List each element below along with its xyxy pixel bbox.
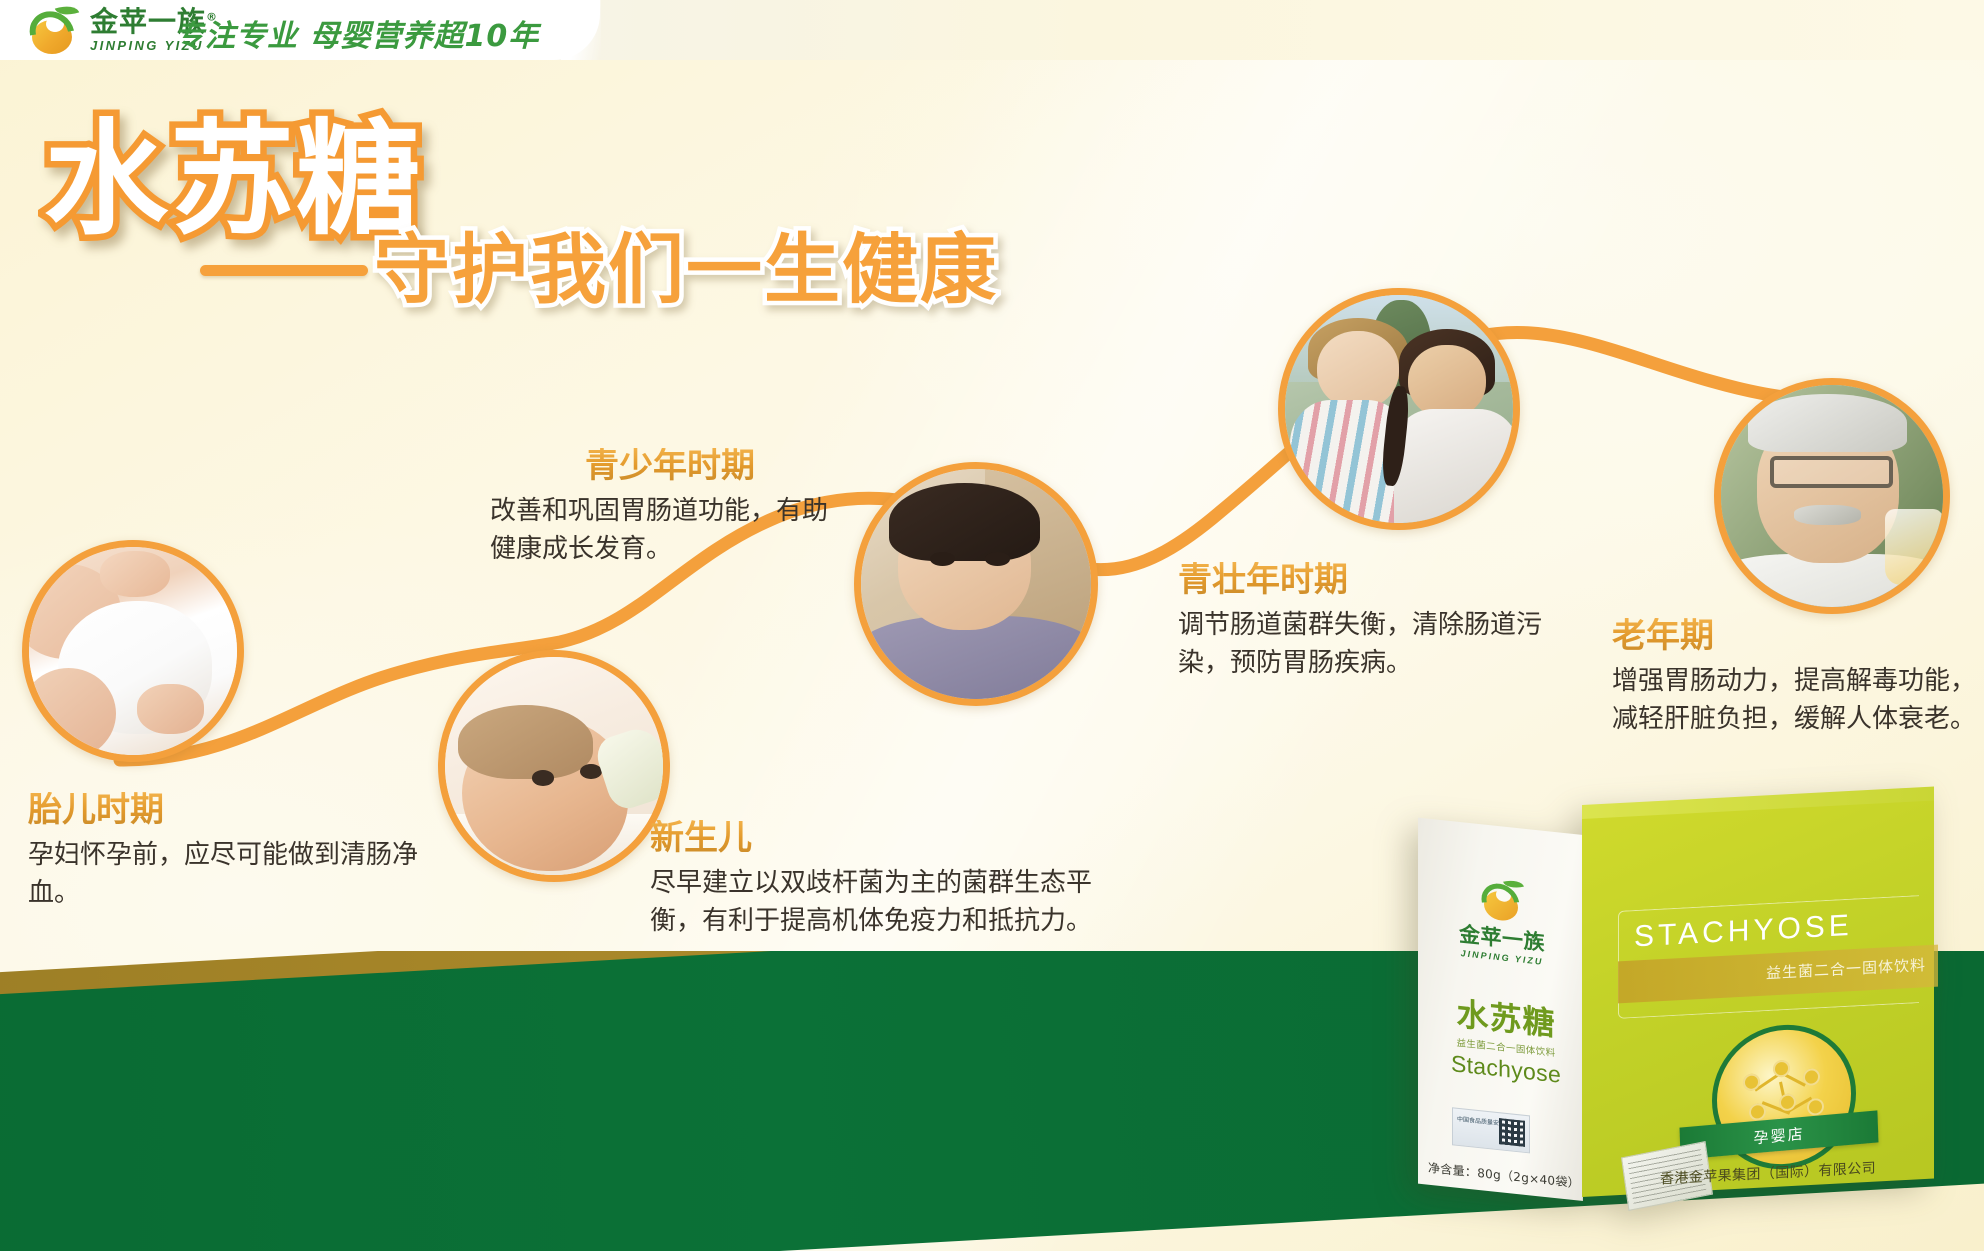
caption-body-adult: 调节肠道菌群失衡，清除肠道污染，预防胃肠疾病。 [1178, 607, 1548, 682]
newborn-with-bottle-photo [445, 657, 663, 875]
photo-circle-teen [854, 462, 1098, 706]
caption-body-teen: 改善和巩固胃肠道功能，有助健康成长发育。 [490, 493, 850, 568]
page-title: 水苏糖 [44, 118, 422, 242]
product-badge-ribbon-label: 孕婴店 [1753, 1122, 1805, 1147]
top-header-bar: 金苹一族® JINPING YIZU 专注专业 母婴营养超10年 [0, 0, 1984, 60]
caption-title-fetal: 胎儿时期 [28, 792, 428, 829]
poster-canvas: 金苹一族® JINPING YIZU 专注专业 母婴营养超10年 水苏糖 守护我… [0, 0, 1984, 1251]
caption-adult: 青壮年时期 调节肠道菌群失衡，清除肠道污染，预防胃肠疾病。 [1178, 562, 1548, 683]
subtitle-dash [200, 265, 368, 276]
apple-logo-icon [26, 4, 82, 56]
caption-fetal: 胎儿时期 孕妇怀孕前，应尽可能做到清肠净血。 [28, 792, 428, 913]
caption-elderly: 老年期 增强胃肠动力，提高解毒功能，减轻肝脏负担，缓解人体衰老。 [1612, 618, 1980, 739]
traceability-qr-label: 中国食品质量安全追溯 [1452, 1107, 1530, 1153]
boy-photo [861, 469, 1091, 699]
caption-body-newborn: 尽早建立以双歧杆菌为主的菌群生态平衡，有利于提高机体免疫力和抵抗力。 [650, 865, 1130, 940]
caption-teen: 青少年时期 改善和巩固胃肠道功能，有助健康成长发育。 [490, 448, 850, 569]
caption-body-fetal: 孕妇怀孕前，应尽可能做到清肠净血。 [28, 837, 428, 912]
product-side-name: 水苏糖 益生菌二合一固体饮料 Stachyose [1440, 996, 1572, 1090]
apple-logo-icon-small [1479, 876, 1525, 923]
page-subtitle: 守护我们一生健康 [374, 232, 998, 308]
photo-circle-newborn [438, 650, 670, 882]
photo-circle-adult [1278, 288, 1520, 530]
elderly-man-photo [1721, 385, 1943, 607]
photo-circle-elderly [1714, 378, 1950, 614]
caption-title-newborn: 新生儿 [650, 820, 1130, 857]
caption-newborn: 新生儿 尽早建立以双歧杆菌为主的菌群生态平衡，有利于提高机体免疫力和抵抗力。 [650, 820, 1130, 941]
header-tagline: 专注专业 母婴营养超10年 [174, 11, 539, 55]
page-subtitle-wrap: 守护我们一生健康 [200, 232, 998, 308]
two-teen-girls-photo [1285, 295, 1513, 523]
caption-title-teen: 青少年时期 [490, 448, 850, 485]
product-side-logo: 金苹一族 JINPING YIZU [1444, 872, 1560, 968]
caption-body-elderly: 增强胃肠动力，提高解毒功能，减轻肝脏负担，缓解人体衰老。 [1612, 663, 1980, 738]
product-box-side-face: 金苹一族 JINPING YIZU 水苏糖 益生菌二合一固体饮料 Stachyo… [1418, 818, 1583, 1201]
qr-code-icon [1499, 1118, 1525, 1147]
product-box: 金苹一族 JINPING YIZU 水苏糖 益生菌二合一固体饮料 Stachyo… [1418, 819, 1938, 1209]
product-net-weight: 净含量：80g（2g×40袋） [1428, 1159, 1578, 1192]
caption-title-elderly: 老年期 [1612, 618, 1980, 655]
caption-title-adult: 青壮年时期 [1178, 562, 1548, 599]
pregnant-woman-photo [29, 547, 237, 755]
photo-circle-fetal [22, 540, 244, 762]
